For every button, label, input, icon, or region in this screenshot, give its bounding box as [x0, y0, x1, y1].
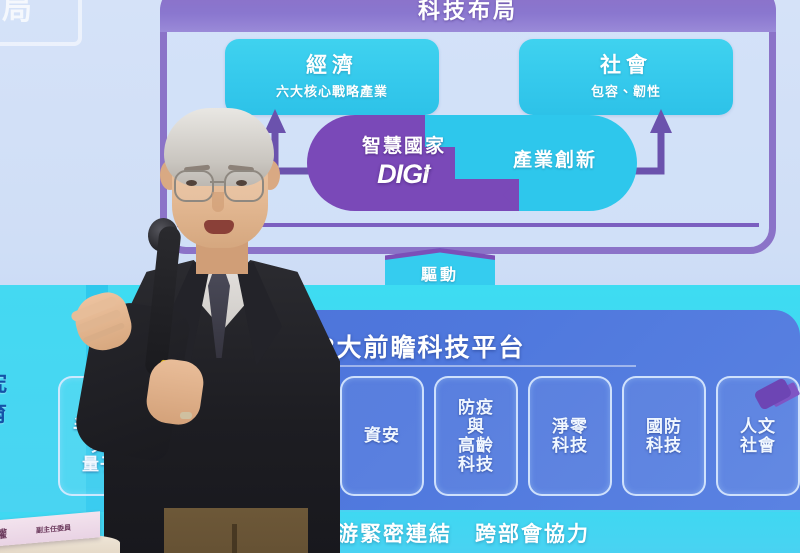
tile-label: 人文 社會: [740, 417, 776, 455]
speaker-figure: [60, 108, 360, 553]
tech-layout-header-label: 科技布局: [418, 0, 518, 25]
society-title: 社會: [600, 54, 652, 78]
strategy-card-economy: 經濟 六大核心戰略產業: [225, 39, 439, 115]
speaker-ring: [180, 412, 192, 419]
speaker-glasses-right-lens: [224, 170, 264, 202]
strategy-card-society: 社會 包容、韌性: [519, 39, 733, 115]
pill-arrow-bottom: [503, 179, 519, 211]
economy-title: 經濟: [306, 54, 358, 78]
digi-plus-mark: +: [424, 160, 431, 176]
platform-tile-defense[interactable]: 國防 科技: [622, 376, 706, 496]
slide-stage: 布局 科技布局 經濟 六大核心戰略產業 社會 包容、韌性: [0, 0, 800, 553]
tile-label: 資安: [364, 426, 400, 445]
industry-innovation-label: 產業創新: [475, 145, 635, 172]
economy-subtitle: 六大核心戰略產業: [276, 81, 388, 100]
tile-label: 淨零 科技: [552, 417, 588, 455]
placard-name: 權: [0, 525, 7, 542]
strategy-cards-row: 經濟 六大核心戰略產業 社會 包容、韌性: [225, 39, 733, 115]
drive-chevron: 驅動: [385, 248, 495, 288]
platform-tile-epidemic-aging[interactable]: 防疫 與 高齡 科技: [434, 376, 518, 496]
pill-arrow-top: [485, 115, 501, 147]
digi-wordmark: DIGI: [377, 159, 429, 189]
side-label-research: 究: [0, 368, 9, 398]
tile-label: 國防 科技: [646, 417, 682, 455]
speaker-glasses-bridge: [210, 181, 224, 183]
speaker-glasses-left-lens: [174, 170, 214, 202]
side-label-education: 育: [0, 398, 9, 428]
ghost-label: 布局: [0, 0, 34, 28]
placard-role: 副主任委員: [36, 523, 71, 536]
drive-label: 驅動: [385, 261, 495, 285]
speaker-nose: [212, 192, 224, 212]
speaker-mouth: [204, 220, 234, 234]
tech-layout-header: 科技布局: [160, 0, 776, 32]
speaker-trousers-seam: [232, 524, 237, 553]
society-subtitle: 包容、韌性: [591, 81, 661, 100]
tile-label: 防疫 與 高齡 科技: [458, 398, 494, 474]
platform-tile-net-zero[interactable]: 淨零 科技: [528, 376, 612, 496]
